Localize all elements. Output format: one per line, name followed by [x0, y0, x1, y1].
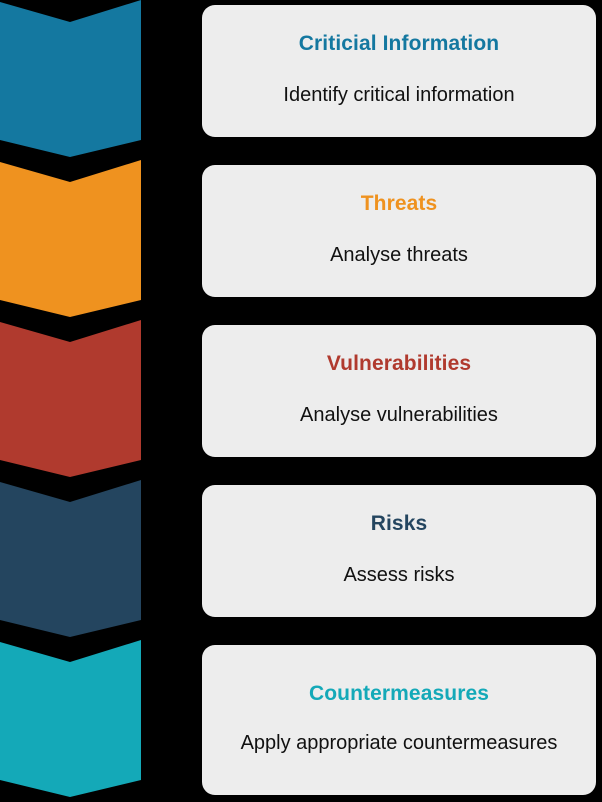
process-step-row: Criticial Information Identify critical …: [0, 0, 602, 160]
step-title: Threats: [361, 192, 438, 216]
chevron-down-icon: [0, 160, 142, 318]
step-title: Criticial Information: [299, 32, 499, 56]
process-step-card[interactable]: Countermeasures Apply appropriate counte…: [202, 645, 596, 795]
chevron-shape-0: [0, 0, 141, 157]
step-title: Countermeasures: [309, 682, 489, 706]
process-step-card[interactable]: Risks Assess risks: [202, 485, 596, 617]
process-step-row: Risks Assess risks: [0, 480, 602, 640]
chevron-shape-3: [0, 480, 141, 637]
chevron-down-icon: [0, 640, 142, 798]
step-title: Risks: [371, 512, 428, 536]
process-step-card[interactable]: Vulnerabilities Analyse vulnerabilities: [202, 325, 596, 457]
chevron-shape-2: [0, 320, 141, 477]
chevron-down-icon: [0, 0, 142, 158]
step-description: Identify critical information: [283, 82, 514, 108]
step-description: Assess risks: [343, 562, 454, 588]
chevron-down-icon: [0, 320, 142, 478]
chevron-shape-4: [0, 640, 141, 797]
step-description: Apply appropriate countermeasures: [241, 730, 558, 756]
process-step-row: Countermeasures Apply appropriate counte…: [0, 640, 602, 800]
step-description: Analyse threats: [330, 242, 468, 268]
process-step-card[interactable]: Criticial Information Identify critical …: [202, 5, 596, 137]
step-title: Vulnerabilities: [327, 352, 471, 376]
process-step-card[interactable]: Threats Analyse threats: [202, 165, 596, 297]
process-step-row: Vulnerabilities Analyse vulnerabilities: [0, 320, 602, 480]
process-step-row: Threats Analyse threats: [0, 160, 602, 320]
opsec-process-diagram: Criticial Information Identify critical …: [0, 0, 602, 802]
chevron-down-icon: [0, 480, 142, 638]
chevron-shape-1: [0, 160, 141, 317]
step-description: Analyse vulnerabilities: [300, 402, 498, 428]
